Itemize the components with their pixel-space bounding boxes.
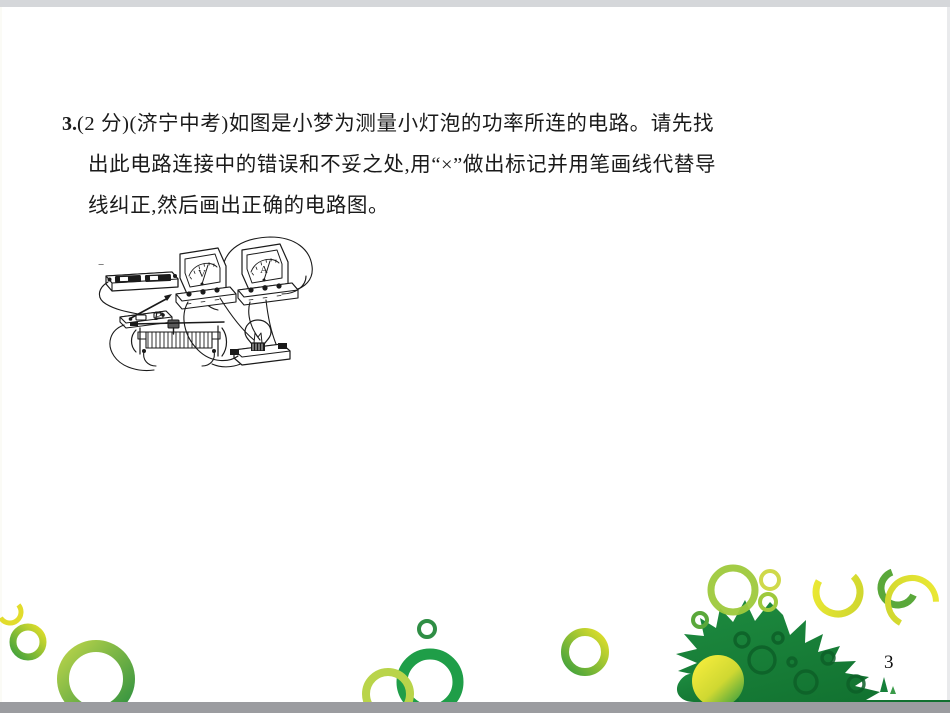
question-number: 3.	[62, 113, 77, 135]
battery-minus-label: −	[98, 259, 104, 271]
maple-leaf-graphic	[676, 600, 950, 702]
question-line-2: 出此电路连接中的错误和不妥之处,用“×”做出标记并用笔画线代替导	[62, 145, 924, 186]
decor-rings-left	[0, 597, 129, 702]
question-line-3: 线纠正,然后画出正确的电路图。	[62, 186, 924, 227]
ammeter-label-A: A	[260, 264, 268, 276]
rheostat-slider-label-P: P	[153, 308, 162, 323]
voltmeter-label-V: V	[198, 268, 206, 280]
slide-left-edge	[0, 7, 2, 702]
battery-component	[106, 272, 178, 291]
window-chrome-top-band	[0, 0, 950, 7]
gradient-ball-graphic	[692, 655, 744, 702]
slide-canvas: 3.(2 分)(济宁中考)如图是小梦为测量小灯泡的功率所连的电路。请先找 出此电…	[0, 0, 950, 713]
ammeter-component: A	[238, 244, 298, 305]
question-line-1: 3.(2 分)(济宁中考)如图是小梦为测量小灯泡的功率所连的电路。请先找	[62, 104, 924, 145]
voltmeter-component: V	[176, 248, 236, 309]
decor-rings-right	[693, 562, 945, 635]
decor-sprout	[880, 677, 888, 692]
bottom-decoration	[0, 542, 950, 702]
decor-sprout-small	[890, 686, 896, 694]
lamp-component	[230, 320, 290, 365]
wire-voltmeter-left	[184, 302, 238, 361]
circuit-diagram-figure: − +	[84, 232, 316, 374]
question-line-1-body: (2 分)(济宁中考)如图是小梦为测量小灯泡的功率所连的电路。请先找	[77, 113, 714, 135]
window-chrome-bottom-band	[0, 702, 950, 713]
decor-rings-middle	[366, 621, 605, 702]
page-number: 3	[884, 652, 894, 674]
question-block: 3.(2 分)(济宁中考)如图是小梦为测量小灯泡的功率所连的电路。请先找 出此电…	[62, 104, 924, 227]
